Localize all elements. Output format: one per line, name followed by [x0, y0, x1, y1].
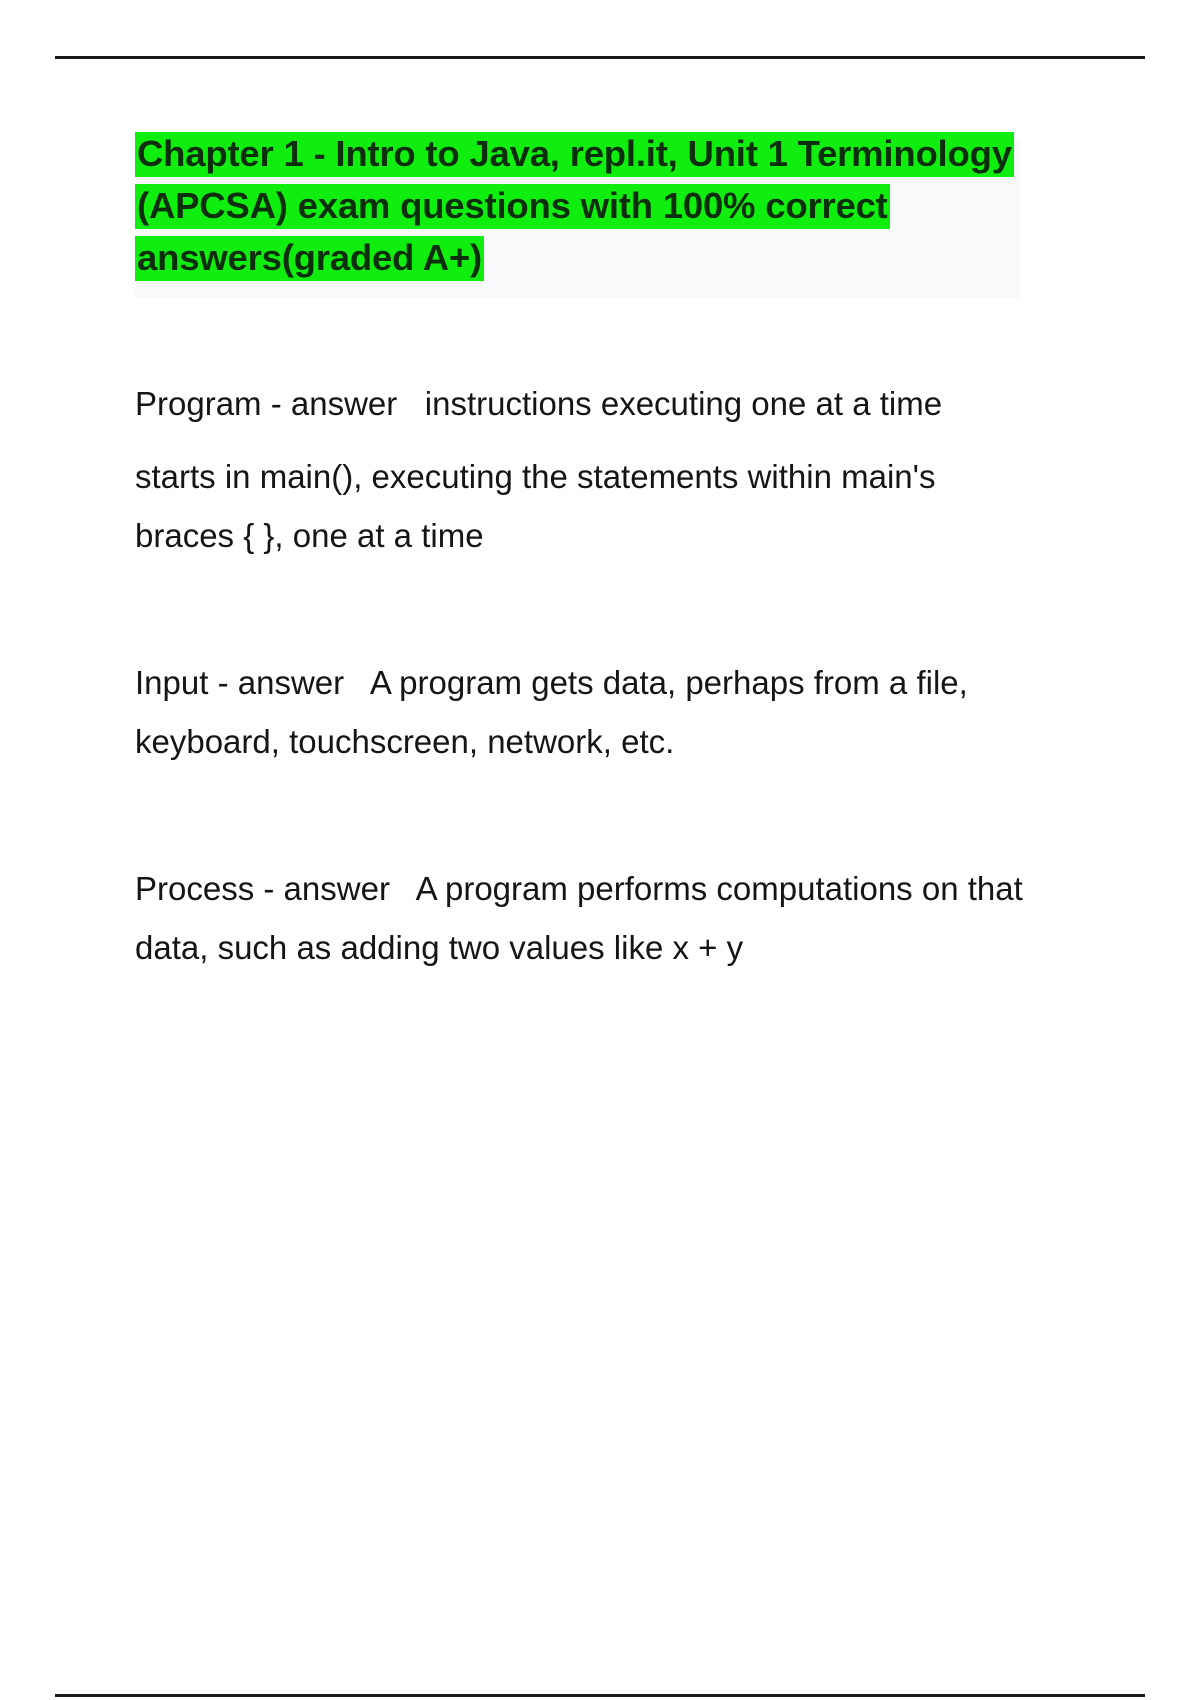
- qa-entry-process: Process - answer A program performs comp…: [135, 859, 1035, 977]
- page-title: Chapter 1 - Intro to Java, repl.it, Unit…: [135, 128, 1025, 284]
- qa-term-program: Program: [135, 385, 262, 422]
- qa-spacer: [262, 385, 271, 422]
- qa-spacer-4: [344, 664, 370, 701]
- qa-spacer-6: [390, 870, 416, 907]
- qa-entry-input-question: Input - answer A program gets data, perh…: [135, 653, 1035, 771]
- qa-term-process: Process: [135, 870, 254, 907]
- page-title-highlight: Chapter 1 - Intro to Java, repl.it, Unit…: [135, 132, 1014, 281]
- qa-spacer-2: [397, 385, 425, 422]
- qa-entry-program: Program - answer instructions executing …: [135, 374, 1035, 565]
- qa-term-input: Input: [135, 664, 208, 701]
- horizontal-rule-bottom: [55, 1694, 1145, 1697]
- horizontal-rule-top: [55, 56, 1145, 59]
- qa-answer-program: instructions executing one at a time: [425, 385, 942, 422]
- qa-spacer-5: [254, 870, 263, 907]
- qa-spacer-3: [208, 664, 217, 701]
- spacer-between-program-input: [135, 565, 1035, 653]
- qa-separator-process: - answer: [263, 870, 390, 907]
- document-content: Chapter 1 - Intro to Java, repl.it, Unit…: [135, 128, 1035, 977]
- spacer-program-note: [135, 433, 1035, 447]
- spacer-between-input-process: [135, 771, 1035, 859]
- qa-separator-input: - answer: [218, 664, 345, 701]
- qa-note-program: starts in main(), executing the statemen…: [135, 447, 1035, 565]
- qa-entry-process-question: Process - answer A program performs comp…: [135, 859, 1035, 977]
- qa-entry-input: Input - answer A program gets data, perh…: [135, 653, 1035, 771]
- qa-entry-program-question: Program - answer instructions executing …: [135, 374, 1035, 433]
- qa-separator-program: - answer: [271, 385, 398, 422]
- document-page: Chapter 1 - Intro to Java, repl.it, Unit…: [0, 0, 1200, 1700]
- spacer-after-title: [135, 284, 1035, 374]
